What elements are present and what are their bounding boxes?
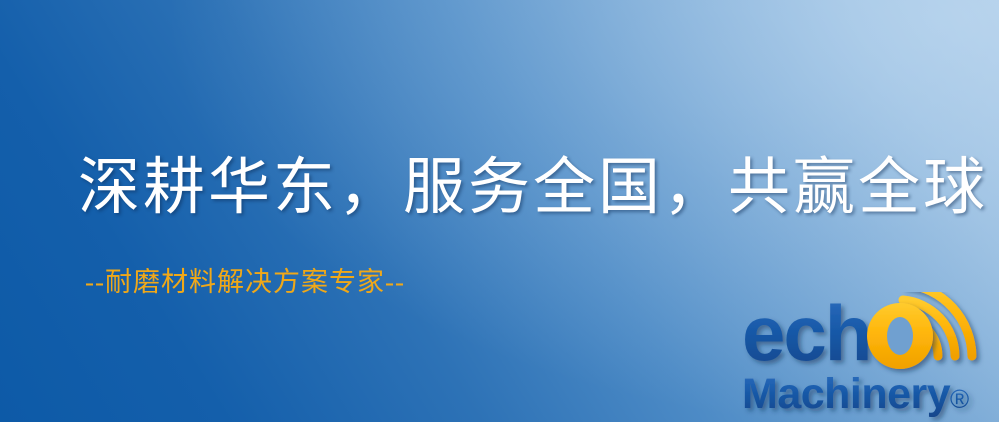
- banner-subtitle: --耐磨材料解决方案专家--: [85, 264, 405, 300]
- logo-wordmark-ech: ech: [742, 292, 870, 377]
- svg-text:®: ®: [950, 384, 969, 414]
- svg-text:ech: ech: [742, 292, 870, 377]
- svg-text:Machinery: Machinery: [742, 370, 951, 418]
- banner-headline: 深耕华东，服务全国，共赢全球: [78, 148, 988, 228]
- hero-banner: 深耕华东，服务全国，共赢全球 --耐磨材料解决方案专家--: [0, 0, 999, 422]
- logo-tagline: Machinery ®: [742, 370, 969, 418]
- logo-wordmark-o: [867, 303, 933, 369]
- logo-svg: ech Machinery ®: [742, 292, 999, 422]
- echo-machinery-logo[interactable]: ech Machinery ®: [742, 292, 999, 422]
